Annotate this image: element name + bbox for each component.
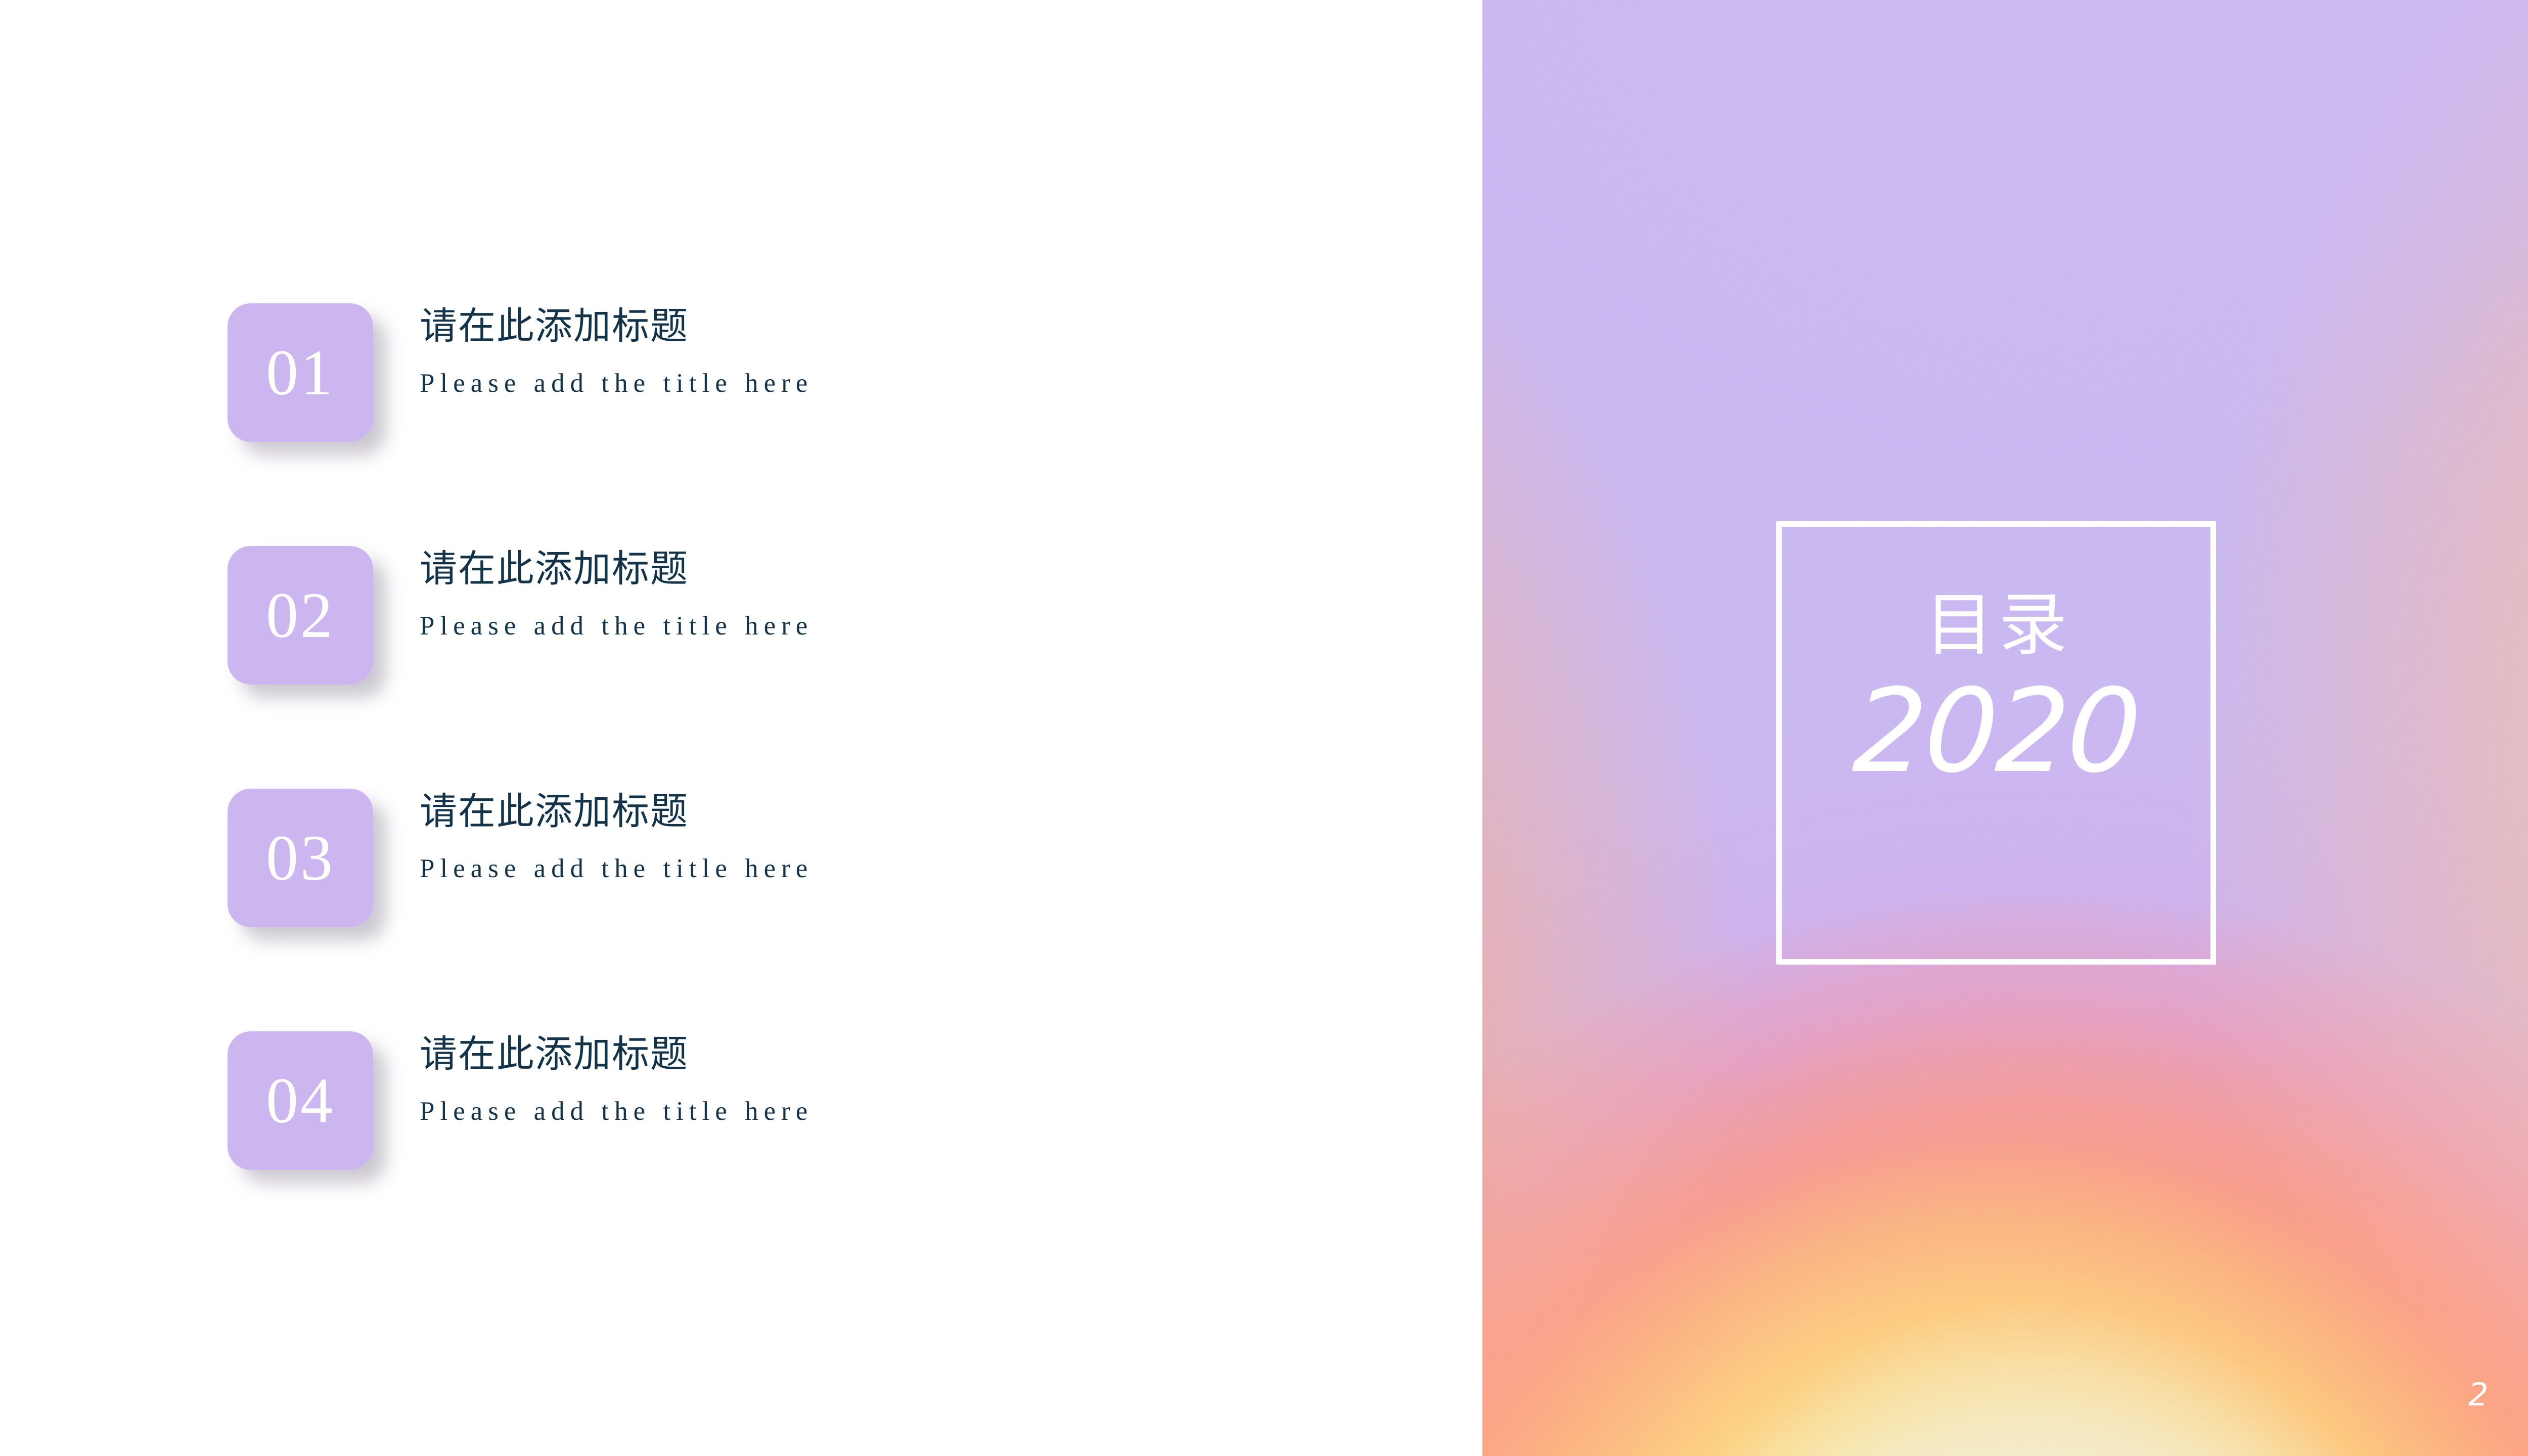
toc-item-title: 请在此添加标题 (420, 1034, 813, 1075)
page-number: 2 (2468, 1379, 2488, 1410)
toc-text-block: 请在此添加标题 Please add the title here (420, 792, 813, 884)
section-title-year: 2020 (1779, 673, 2214, 789)
section-title-cn: 目录 (1782, 591, 2210, 660)
toc-number-badge: 04 (228, 1031, 373, 1170)
toc-item-title: 请在此添加标题 (420, 306, 813, 347)
toc-number-label: 03 (266, 826, 335, 890)
toc-item-subtitle: Please add the title here (420, 854, 813, 883)
toc-item-subtitle: Please add the title here (420, 611, 813, 641)
slide-canvas: 01 请在此添加标题 Please add the title here 02 … (0, 0, 2528, 1456)
gradient-art-panel: 目录 2020 2 (1482, 0, 2528, 1456)
list-item[interactable]: 01 请在此添加标题 Please add the title here (228, 303, 1390, 546)
toc-item-subtitle: Please add the title here (420, 369, 813, 398)
toc-number-badge: 03 (228, 789, 373, 927)
toc-text-block: 请在此添加标题 Please add the title here (420, 306, 813, 398)
toc-number-badge: 02 (228, 546, 373, 685)
toc-number-label: 04 (266, 1068, 335, 1133)
toc-number-label: 01 (266, 340, 335, 405)
toc-item-subtitle: Please add the title here (420, 1097, 813, 1126)
toc-item-title: 请在此添加标题 (420, 549, 813, 590)
section-title-frame: 目录 2020 (1776, 521, 2216, 965)
toc-text-block: 请在此添加标题 Please add the title here (420, 549, 813, 641)
toc-text-block: 请在此添加标题 Please add the title here (420, 1034, 813, 1126)
list-item[interactable]: 03 请在此添加标题 Please add the title here (228, 789, 1390, 1031)
section-title-inner: 目录 2020 (1782, 591, 2210, 789)
list-item[interactable]: 04 请在此添加标题 Please add the title here (228, 1031, 1390, 1274)
list-item[interactable]: 02 请在此添加标题 Please add the title here (228, 546, 1390, 789)
toc-number-label: 02 (266, 583, 335, 648)
toc-list: 01 请在此添加标题 Please add the title here 02 … (228, 303, 1390, 1274)
toc-item-title: 请在此添加标题 (420, 792, 813, 833)
toc-number-badge: 01 (228, 303, 373, 442)
